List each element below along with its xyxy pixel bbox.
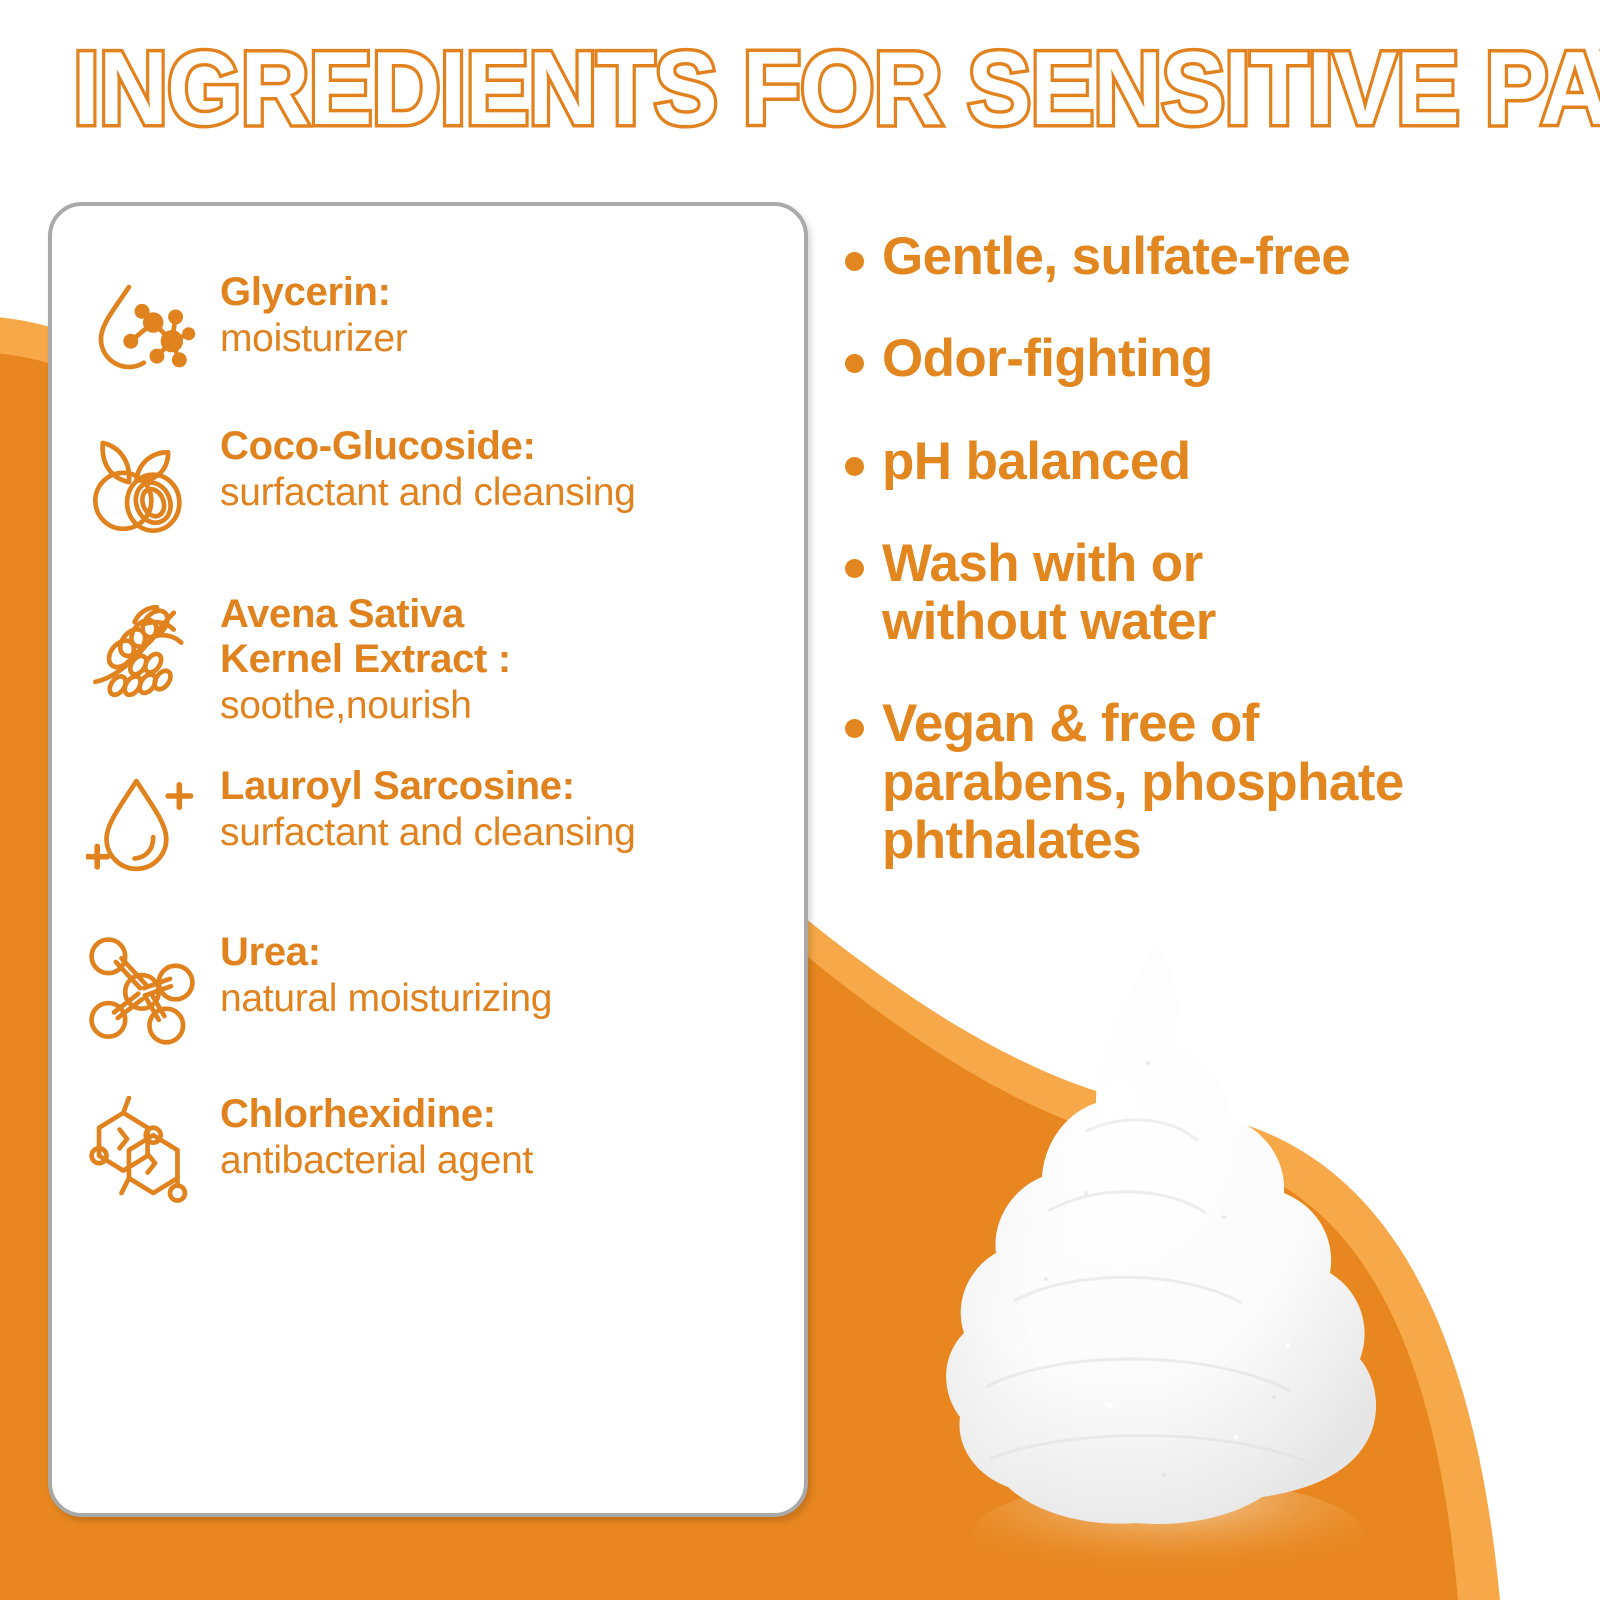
list-item: Chlorhexidine: antibacterial agent [78,1088,778,1216]
list-item: Gentle, sulfate-free [845,228,1565,286]
list-item-text: Urea: natural moisturizing [220,926,552,1021]
page-title-wrap: INGREDIENTS FOR SENSITIVE PAWS [0,36,1600,142]
ingredient-name: Chlorhexidine: [220,1092,533,1137]
droplet-plus-icon [78,760,206,888]
list-item-text: Avena Sativa Kernel Extract : soothe,nou… [220,588,511,728]
benefit-text-line2: parabens, phosphate [882,753,1404,812]
ingredient-description: surfactant and cleansing [220,471,636,515]
ingredient-description: moisturizer [220,317,407,361]
list-item-text: Lauroyl Sarcosine: surfactant and cleans… [220,760,636,855]
ingredient-description: surfactant and cleansing [220,811,636,855]
list-item: Avena Sativa Kernel Extract : soothe,nou… [78,588,778,728]
benefit-text-line3: phthalates [882,811,1141,870]
list-item-text: Chlorhexidine: antibacterial agent [220,1088,533,1183]
benefit-text-line1: Vegan & free of [882,694,1259,753]
ingredient-description: soothe,nourish [220,684,511,728]
bullet-dot-icon [845,252,864,271]
bullet-dot-icon [845,559,864,578]
list-item: Wash with or without water [845,535,1565,652]
benefit-text-line2: without water [882,592,1216,651]
ingredient-name-line1: Avena Sativa [220,592,511,637]
list-item: Lauroyl Sarcosine: surfactant and cleans… [78,760,778,888]
foam-product-image [880,935,1440,1595]
infographic-page: INGREDIENTS FOR SENSITIVE PAWS [0,0,1600,1600]
bullet-dot-icon [845,719,864,738]
ingredients-card: Glycerin: moisturizer [48,202,808,1517]
benefit-text: pH balanced [882,433,1191,491]
page-title: INGREDIENTS FOR SENSITIVE PAWS [73,36,1600,142]
ingredients-list: Glycerin: moisturizer [78,264,778,1216]
list-item: Glycerin: moisturizer [78,266,778,394]
wheat-stalk-icon [78,588,206,716]
list-item: Coco-Glucoside: surfactant and cleansing [78,420,778,548]
ingredient-name: Urea: [220,930,552,975]
ingredient-name: Lauroyl Sarcosine: [220,764,636,809]
benefit-text: Vegan & free of parabens, phosphate phth… [882,695,1404,870]
molecule-node-icon [78,926,206,1054]
list-item: Urea: natural moisturizing [78,926,778,1054]
ingredient-name-line2: Kernel Extract : [220,637,511,682]
bullet-dot-icon [845,354,864,373]
droplet-molecule-icon [78,266,206,394]
benefit-text: Odor-fighting [882,330,1213,388]
ingredient-description: natural moisturizing [220,977,552,1021]
benefit-text: Wash with or without water [882,535,1216,652]
ingredient-name: Coco-Glucoside: [220,424,636,469]
list-item: pH balanced [845,433,1565,491]
list-item: Odor-fighting [845,330,1565,388]
benefit-text-line1: Wash with or [882,534,1203,593]
hexagon-ring-icon [78,1088,206,1216]
list-item-text: Glycerin: moisturizer [220,266,407,361]
bullet-dot-icon [845,457,864,476]
coconut-leaf-icon [78,420,206,548]
list-item: Vegan & free of parabens, phosphate phth… [845,695,1565,870]
benefits-list: Gentle, sulfate-free Odor-fighting pH ba… [845,228,1565,914]
ingredient-name: Glycerin: [220,270,407,315]
list-item-text: Coco-Glucoside: surfactant and cleansing [220,420,636,515]
ingredient-description: antibacterial agent [220,1139,533,1183]
benefit-text: Gentle, sulfate-free [882,228,1350,286]
